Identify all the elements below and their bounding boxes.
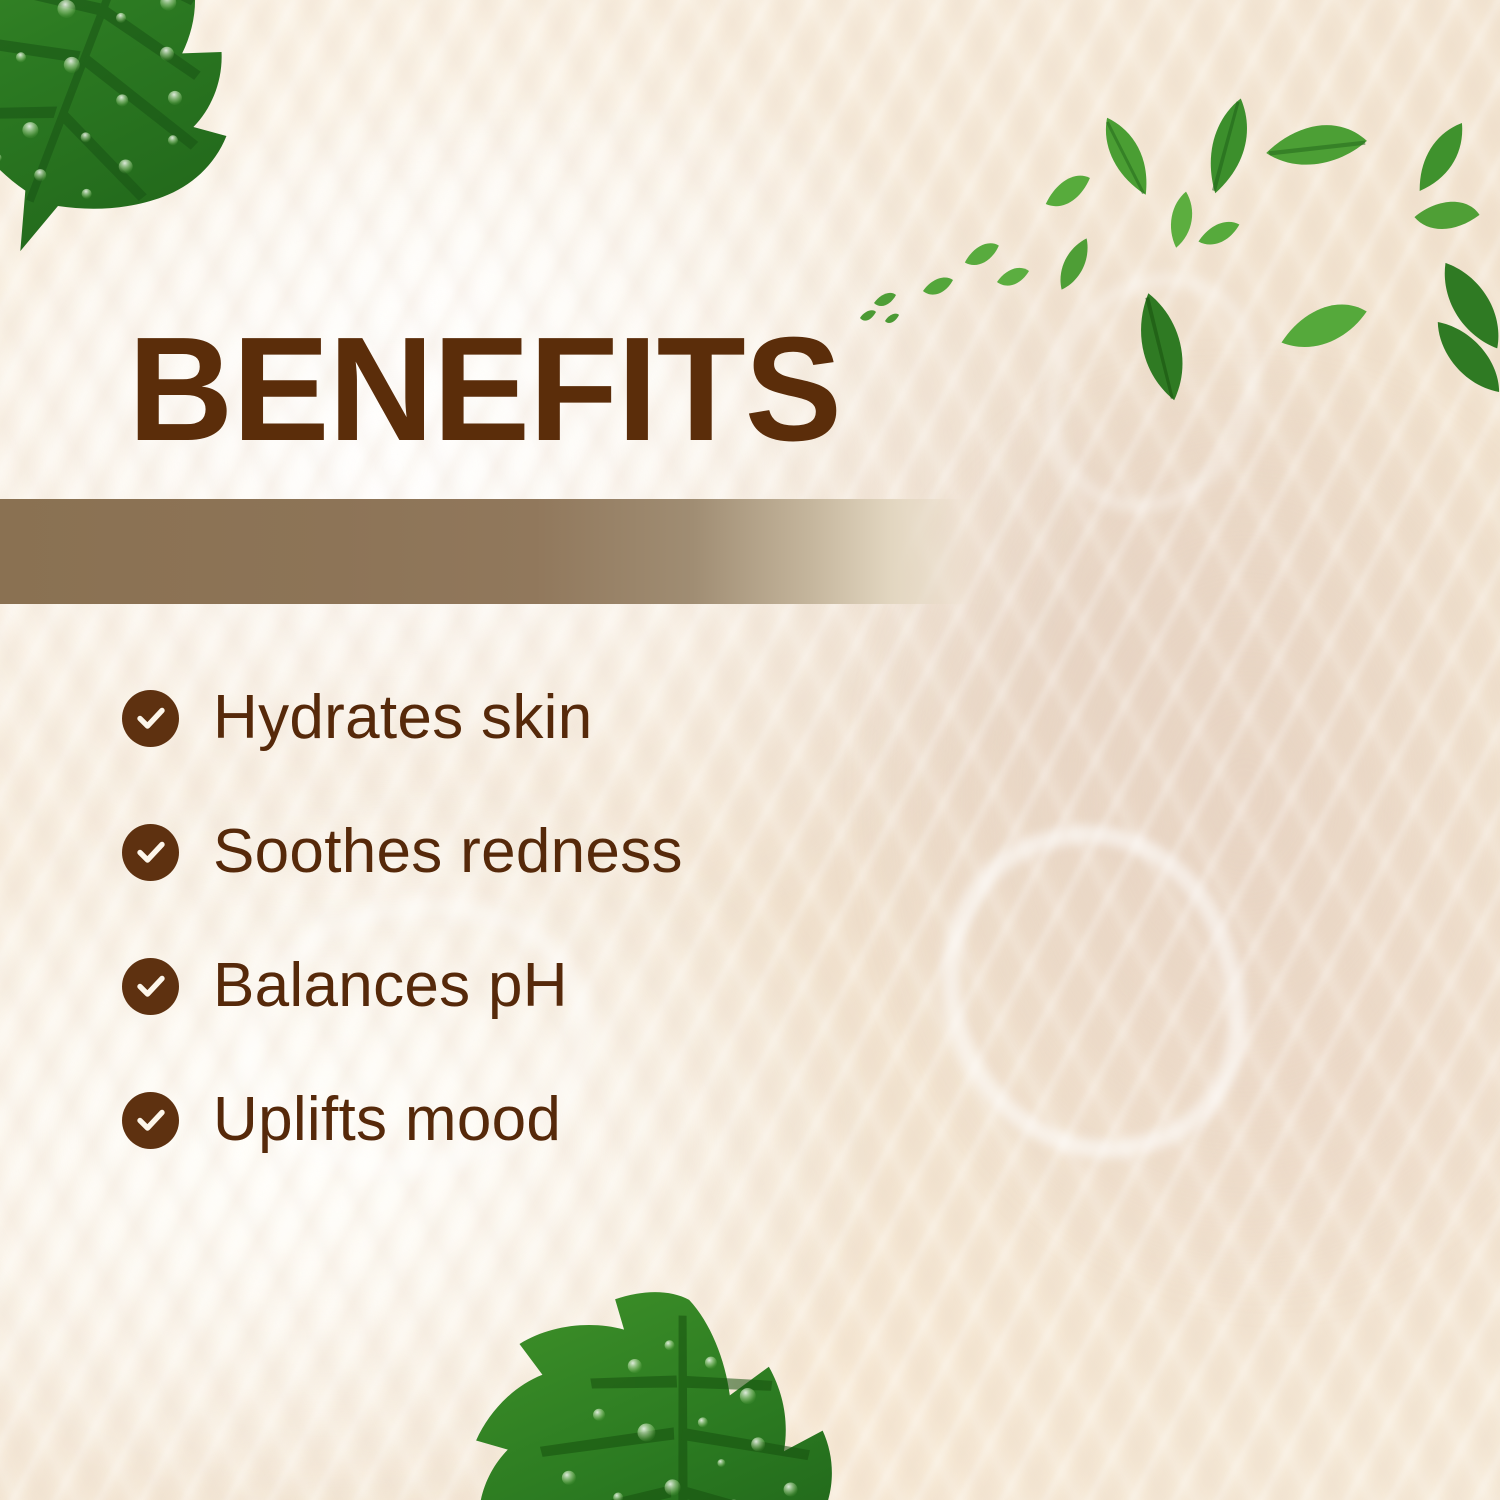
benefit-label: Soothes redness (213, 821, 683, 883)
page-title: BENEFITS (128, 316, 841, 464)
list-item: Balances pH (122, 957, 942, 1015)
list-item: Soothes redness (122, 823, 942, 881)
check-circle-icon (122, 824, 179, 881)
benefit-label: Hydrates skin (213, 687, 592, 749)
check-circle-icon (122, 958, 179, 1015)
section-divider-bar (0, 499, 990, 604)
check-circle-icon (122, 690, 179, 747)
benefits-poster: BENEFITS Hydrates skin Soothes redness (0, 0, 1500, 1500)
list-item: Hydrates skin (122, 689, 942, 747)
benefits-list: Hydrates skin Soothes redness Balances p… (122, 689, 942, 1149)
monstera-leaf-icon-bottom (464, 1274, 915, 1500)
benefit-label: Balances pH (213, 955, 568, 1017)
check-circle-icon (122, 1092, 179, 1149)
benefit-label: Uplifts mood (213, 1089, 561, 1151)
monstera-leaf-icon-top-left (0, 0, 343, 325)
list-item: Uplifts mood (122, 1091, 942, 1149)
